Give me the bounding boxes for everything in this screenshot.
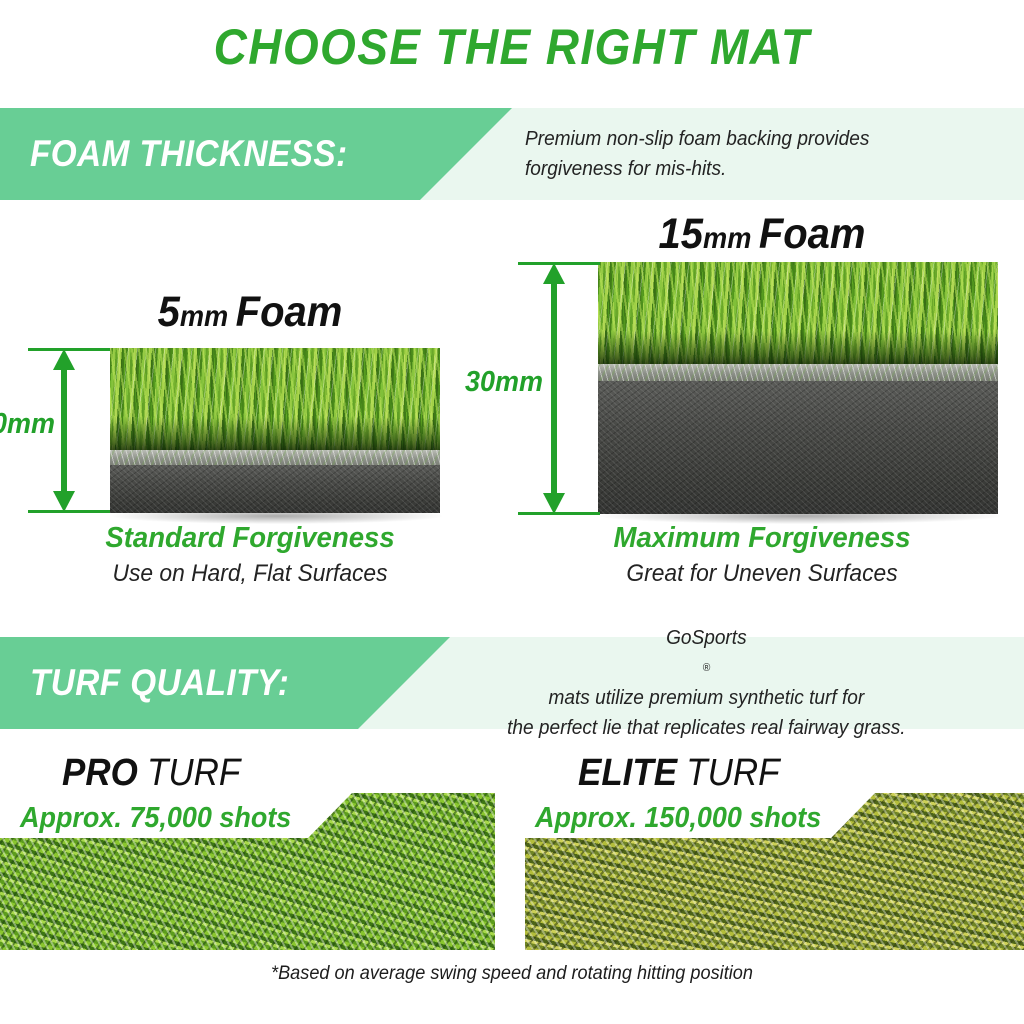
measurement-text-30mm: 30mm [455, 366, 543, 399]
measurement-text-20mm: 20mm [0, 408, 55, 441]
foam-layer-15mm [598, 381, 998, 514]
turf-title-pro: PROTURF [62, 752, 240, 795]
foam-desc-line-1: Premium non-slip foam backing provides [525, 124, 981, 154]
caption-standard-forgiveness: Standard Forgiveness [13, 522, 488, 555]
turf-shots-elite: Approx. 150,000 shots [535, 802, 821, 835]
caption-maximum-forgiveness: Maximum Forgiveness [513, 522, 1011, 555]
section-banner-foam-thickness: FOAM THICKNESS: Premium non-slip foam ba… [0, 108, 1024, 200]
foam-word: Foam [236, 288, 343, 336]
foam-word-2: Foam [759, 210, 866, 258]
brand-name: GoSports [548, 623, 864, 653]
turf-grass-layer [110, 348, 440, 453]
mat-cross-section-standard [110, 348, 440, 513]
foam-label-5mm: 5mmFoam [18, 288, 483, 337]
infographic-page: CHOOSE THE RIGHT MAT FOAM THICKNESS: Pre… [0, 0, 1024, 1024]
foam-unit-mm-2: mm [703, 223, 751, 255]
caption-standard-usage: Use on Hard, Flat Surfaces [13, 560, 488, 588]
foam-card-standard: 5mmFoam 20mm Standard Forgivene [0, 200, 500, 610]
foam-unit-mm: mm [180, 301, 228, 333]
mat-cross-section-maximum [598, 262, 998, 514]
turf-quality-description: GoSports® mats utilize premium synthetic… [432, 637, 981, 729]
footnote-disclaimer: *Based on average swing speed and rotati… [36, 962, 988, 985]
foam-value-5: 5 [158, 288, 180, 336]
foam-value-15: 15 [659, 210, 703, 258]
foam-comparison-area: 5mmFoam 20mm Standard Forgivene [0, 200, 1024, 610]
turf-quality-label: TURF QUALITY: [30, 637, 289, 729]
caption-maximum-usage: Great for Uneven Surfaces [513, 560, 1011, 588]
turf-name-elite: ELITE [578, 752, 677, 794]
turf-name-pro: PRO [62, 752, 138, 794]
foam-desc-line-2: forgiveness for mis-hits. [525, 154, 981, 184]
foam-label-15mm: 15mmFoam [518, 210, 1005, 259]
turf-desc-line-1-rest: mats utilize premium synthetic turf for [548, 683, 864, 713]
measurement-20mm: 20mm [0, 348, 110, 514]
foam-thickness-label: FOAM THICKNESS: [30, 108, 348, 200]
foam-thickness-description: Premium non-slip foam backing provides f… [525, 108, 981, 200]
turf-title-elite: ELITETURF [578, 752, 779, 795]
section-banner-turf-quality: TURF QUALITY: GoSports® mats utilize pre… [0, 637, 1024, 729]
foam-card-maximum: 15mmFoam 30mm Maximum Forgiveness Great [500, 200, 1024, 610]
turf-suffix-pro: TURF [147, 752, 240, 794]
turf-shots-pro: Approx. 75,000 shots [20, 802, 291, 835]
turf-desc-line-2: the perfect lie that replicates real fai… [507, 713, 905, 743]
turf-suffix-elite: TURF [686, 752, 779, 794]
page-title: CHOOSE THE RIGHT MAT [41, 18, 983, 76]
measurement-30mm: 30mm [490, 262, 600, 516]
turf-grass-layer-2 [598, 262, 998, 367]
registered-trademark-icon: ® [548, 653, 864, 683]
foam-layer-5mm [110, 465, 440, 513]
turf-desc-line-1: GoSports® mats utilize premium synthetic… [548, 623, 864, 713]
